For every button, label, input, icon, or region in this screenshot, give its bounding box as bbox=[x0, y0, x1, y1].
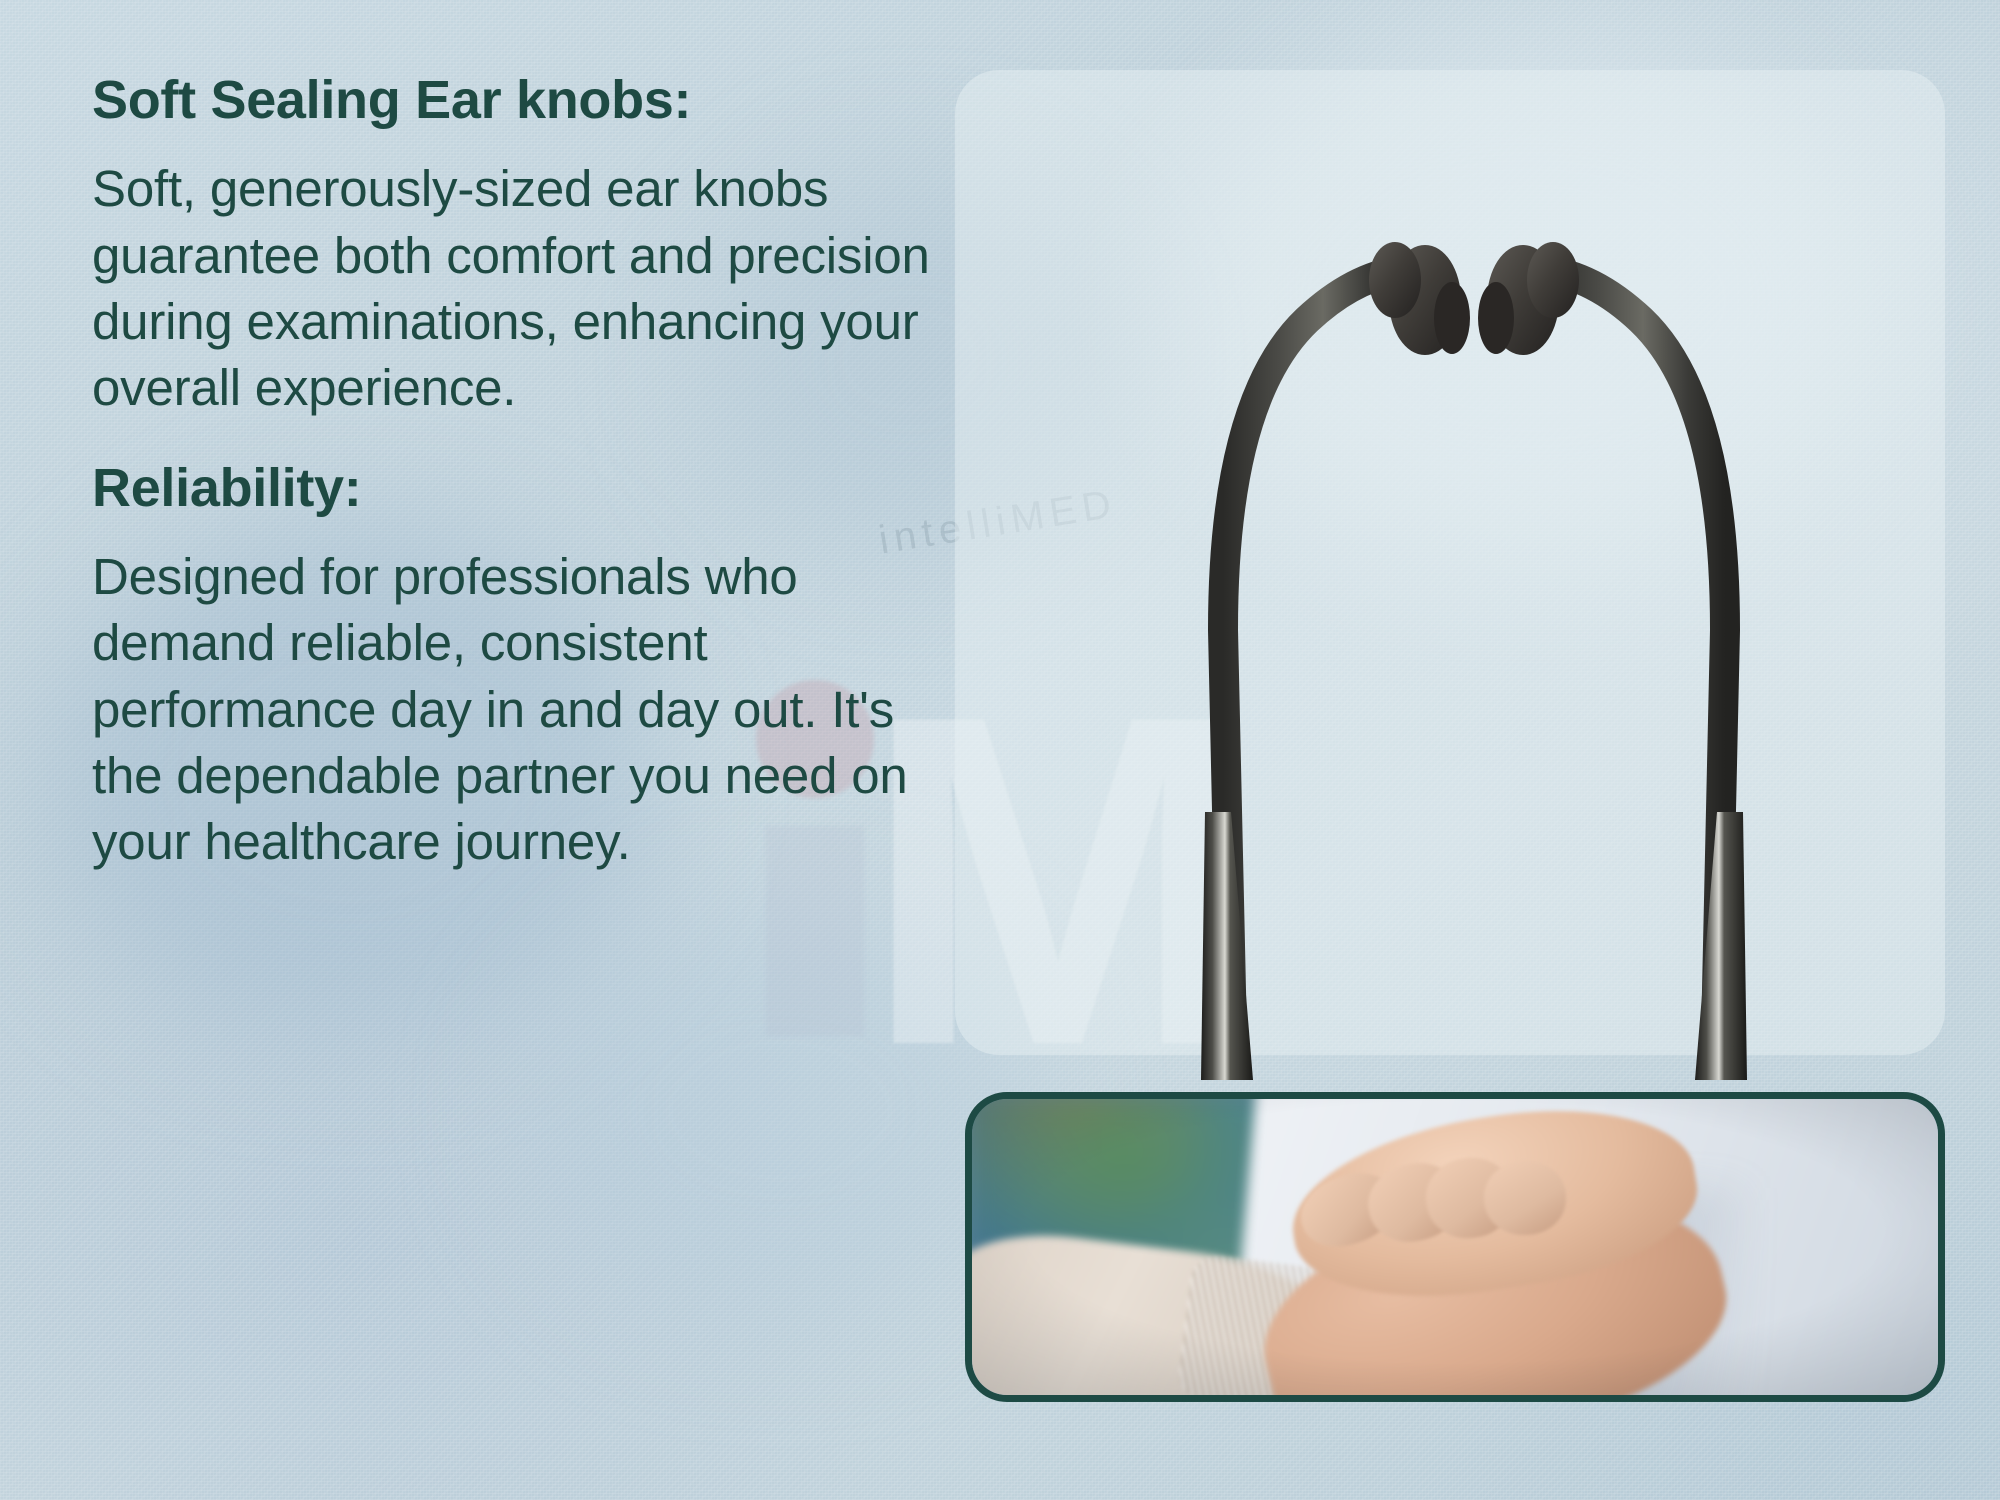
supporting-photo-card bbox=[965, 1092, 1945, 1402]
section-heading-ear-knobs: Soft Sealing Ear knobs: bbox=[92, 70, 972, 130]
slide-canvas: intelliMED M Soft Sealing Ear knobs: Sof… bbox=[0, 0, 2000, 1500]
section-heading-reliability: Reliability: bbox=[92, 458, 972, 518]
product-image-card bbox=[955, 70, 1945, 1055]
section-body-reliability: Designed for professionals who demand re… bbox=[92, 544, 972, 875]
supporting-photo bbox=[972, 1099, 1938, 1395]
text-column: Soft Sealing Ear knobs: Soft, generously… bbox=[92, 70, 972, 912]
photo-vignette bbox=[972, 1099, 1938, 1395]
section-body-ear-knobs: Soft, generously-sized ear knobs guarant… bbox=[92, 156, 972, 421]
